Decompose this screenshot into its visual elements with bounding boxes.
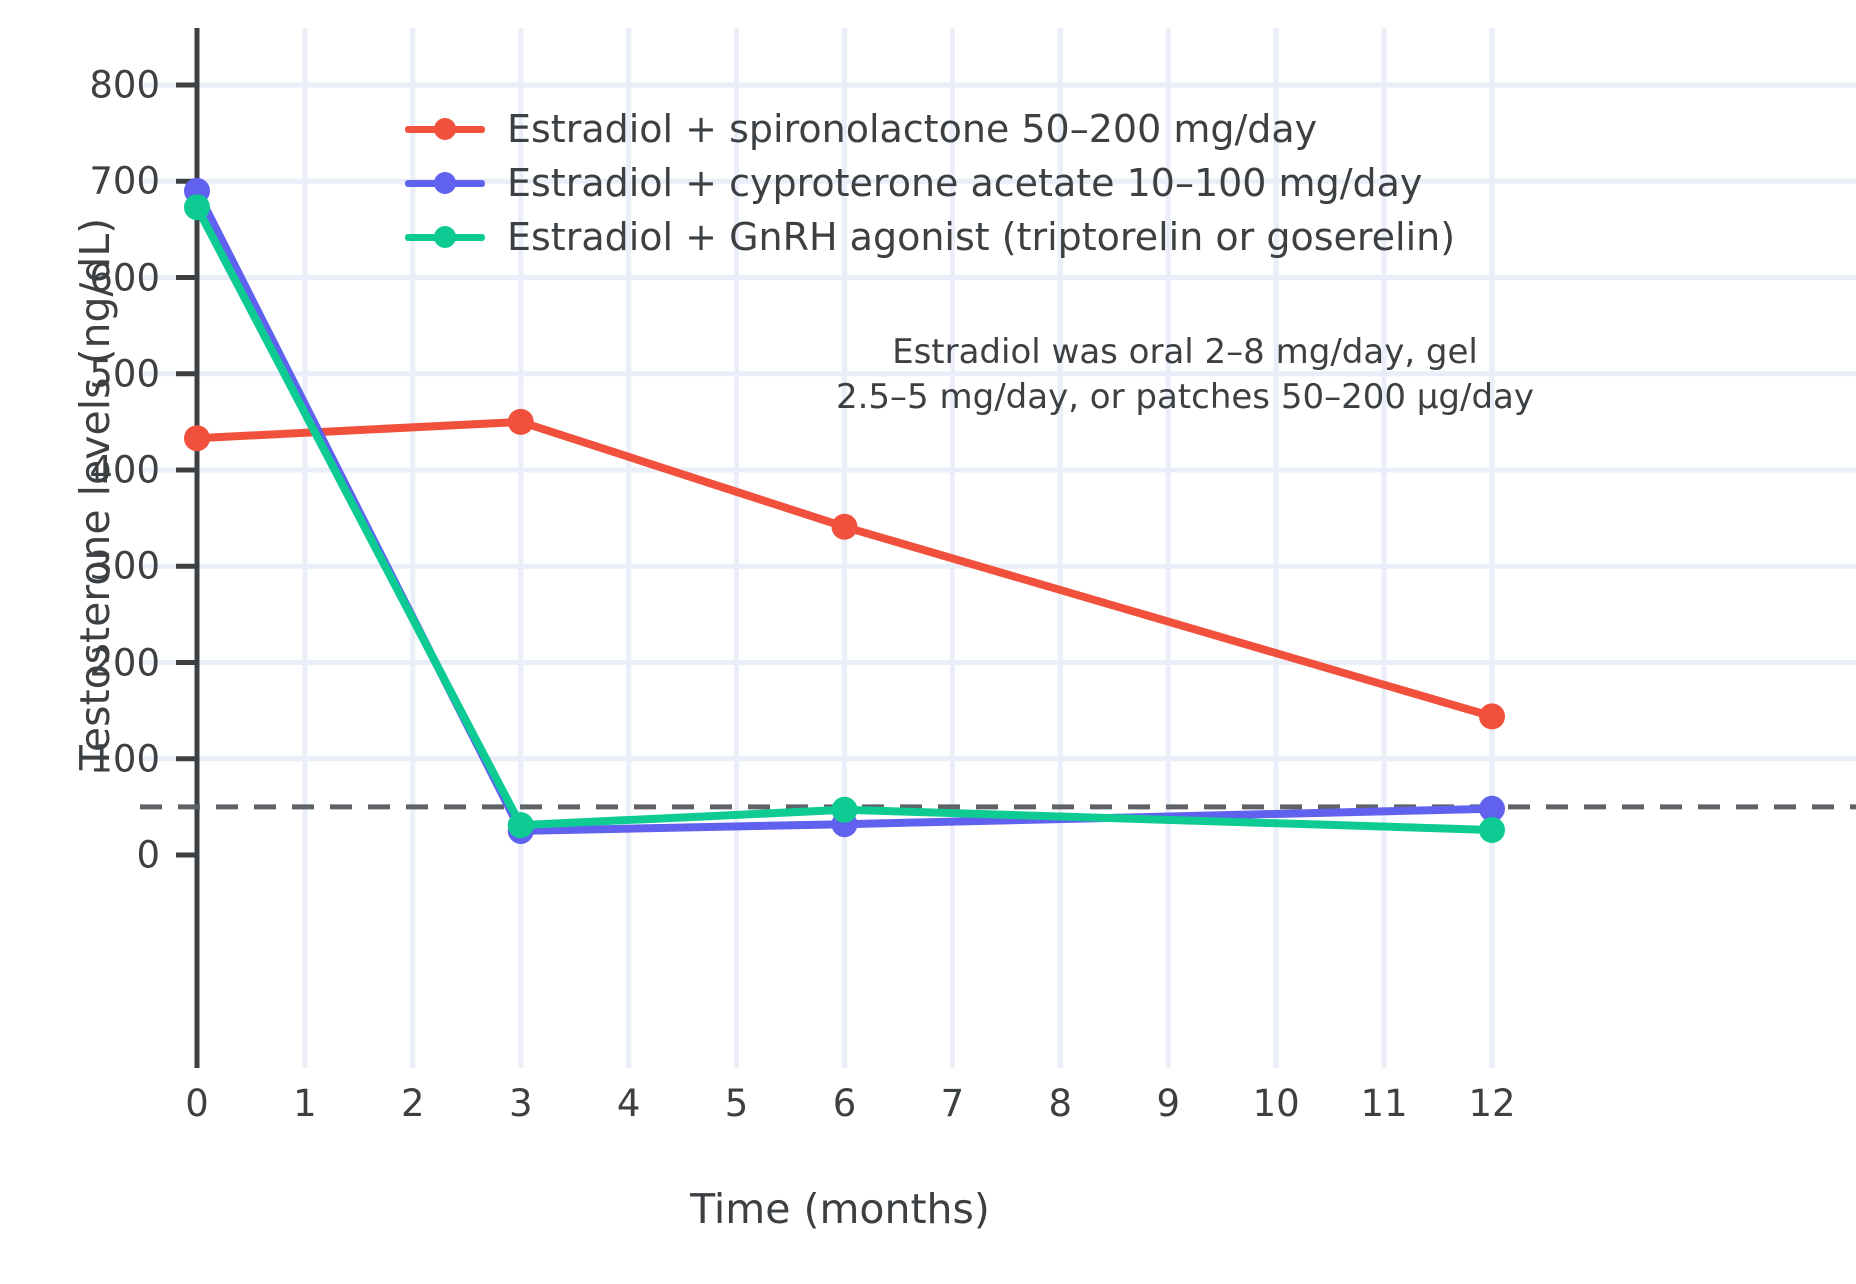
chart-legend: Estradiol + spironolactone 50–200 mg/day… [405, 102, 1455, 264]
legend-marker-icon [405, 222, 485, 252]
x-tick-label: 6 [800, 1082, 890, 1125]
legend-marker-icon [405, 168, 485, 198]
legend-item-spironolactone[interactable]: Estradiol + spironolactone 50–200 mg/day [405, 102, 1455, 156]
chart-figure: 0100200300400500600700800 01234567891011… [0, 0, 1856, 1284]
legend-item-cyproterone[interactable]: Estradiol + cyproterone acetate 10–100 m… [405, 156, 1455, 210]
x-axis-title: Time (months) [0, 1185, 1680, 1233]
x-tick-label: 8 [1015, 1082, 1105, 1125]
legend-label-cyproterone: Estradiol + cyproterone acetate 10–100 m… [507, 164, 1422, 202]
data-point[interactable] [832, 797, 858, 823]
x-tick-label: 5 [692, 1082, 782, 1125]
y-tick-label: 800 [20, 64, 160, 107]
legend-label-spironolactone: Estradiol + spironolactone 50–200 mg/day [507, 110, 1317, 148]
data-point[interactable] [508, 409, 534, 435]
data-point[interactable] [1479, 817, 1505, 843]
legend-dot-icon [434, 226, 456, 248]
annotation-line-1: Estradiol was oral 2–8 mg/day, gel [835, 330, 1535, 375]
y-axis-title: Testosterone levels (ng/dL) [71, 144, 119, 844]
legend-dot-icon [434, 172, 456, 194]
chart-annotation: Estradiol was oral 2–8 mg/day, gel 2.5–5… [835, 330, 1535, 420]
annotation-line-2: 2.5–5 mg/day, or patches 50–200 µg/day [835, 375, 1535, 420]
data-point[interactable] [184, 194, 210, 220]
data-point[interactable] [508, 812, 534, 838]
x-tick-label: 10 [1231, 1082, 1321, 1125]
data-point[interactable] [832, 514, 858, 540]
x-tick-label: 9 [1123, 1082, 1213, 1125]
x-tick-label: 0 [152, 1082, 242, 1125]
data-point[interactable] [184, 425, 210, 451]
x-tick-label: 1 [260, 1082, 350, 1125]
x-tick-label: 7 [907, 1082, 997, 1125]
x-tick-label: 11 [1339, 1082, 1429, 1125]
legend-dot-icon [434, 118, 456, 140]
legend-label-gnrh: Estradiol + GnRH agonist (triptorelin or… [507, 218, 1455, 256]
legend-item-gnrh[interactable]: Estradiol + GnRH agonist (triptorelin or… [405, 210, 1455, 264]
x-tick-label: 2 [368, 1082, 458, 1125]
data-point[interactable] [1479, 703, 1505, 729]
x-tick-label: 12 [1447, 1082, 1537, 1125]
x-tick-label: 4 [584, 1082, 674, 1125]
legend-marker-icon [405, 114, 485, 144]
x-tick-label: 3 [476, 1082, 566, 1125]
